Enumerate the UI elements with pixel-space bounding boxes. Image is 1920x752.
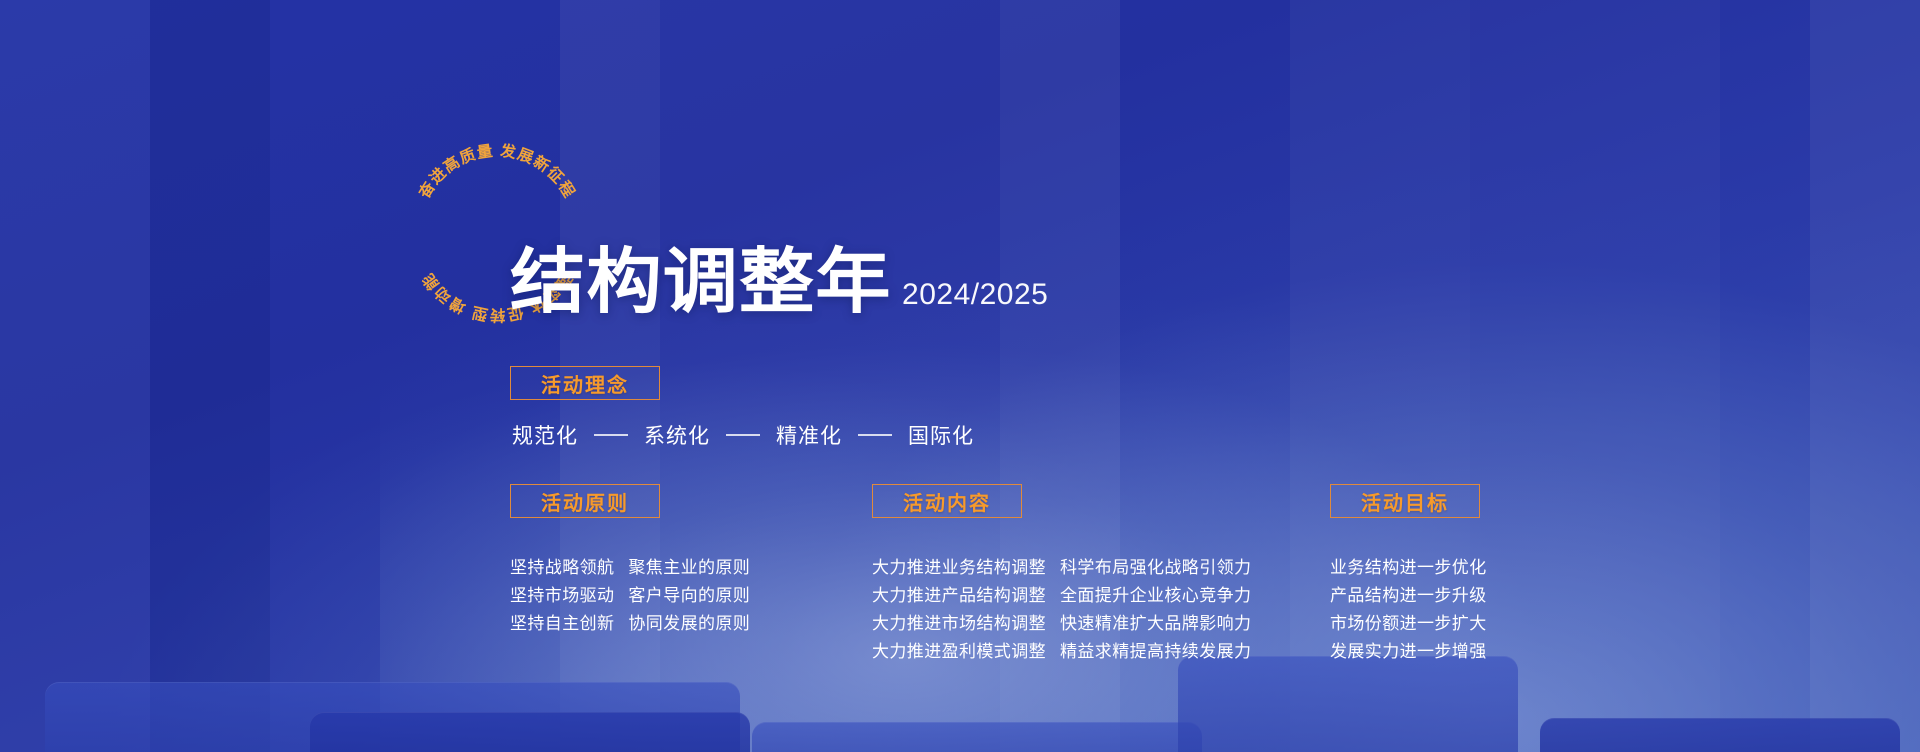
concept-item: 精准化 [774, 420, 844, 450]
page-title: 结构调整年 [510, 247, 892, 318]
list-item: 发展实力进一步增强 [1330, 638, 1487, 666]
list-item-part-b: 精益求精提高持续发展力 [1060, 638, 1251, 666]
list-item: 坚持战略领航 聚焦主业的原则 [510, 554, 750, 582]
list-item-part-b: 科学布局强化战略引领力 [1060, 554, 1251, 582]
concept-row: 规范化 系统化 精准化 国际化 [510, 420, 976, 450]
column-content: 活动内容 大力推进业务结构调整 科学布局强化战略引领力 大力推进产品结构调整 全… [872, 484, 1251, 666]
list-item: 业务结构进一步优化 [1330, 554, 1487, 582]
background-bar [1178, 656, 1518, 752]
column-goals: 活动目标 业务结构进一步优化 产品结构进一步升级 市场份额进一步扩大 发展实力进… [1330, 484, 1487, 666]
list-item-part-a: 市场份额进一步扩大 [1330, 610, 1487, 638]
list-item-part-a: 大力推进市场结构调整 [872, 610, 1046, 638]
badge-concept: 活动理念 [510, 366, 660, 400]
background-bar [310, 712, 750, 752]
list-item-part-a: 坚持市场驱动 [510, 582, 614, 610]
list-item: 大力推进产品结构调整 全面提升企业核心竞争力 [872, 582, 1251, 610]
list-item-part-a: 大力推进业务结构调整 [872, 554, 1046, 582]
concept-item: 国际化 [906, 420, 976, 450]
list-item-part-a: 坚持自主创新 [510, 610, 614, 638]
list-item-part-b: 客户导向的原则 [628, 582, 750, 610]
content-list: 大力推进业务结构调整 科学布局强化战略引领力 大力推进产品结构调整 全面提升企业… [872, 554, 1251, 666]
concept-separator-dash [594, 434, 628, 436]
concept-item: 系统化 [642, 420, 712, 450]
principles-list: 坚持战略领航 聚焦主业的原则 坚持市场驱动 客户导向的原则 坚持自主创新 协同发… [510, 554, 750, 638]
list-item-part-b: 快速精准扩大品牌影响力 [1060, 610, 1251, 638]
list-item-part-a: 产品结构进一步升级 [1330, 582, 1487, 610]
list-item: 坚持市场驱动 客户导向的原则 [510, 582, 750, 610]
background-bar [752, 722, 1202, 752]
badge-principles: 活动原则 [510, 484, 660, 518]
column-principles: 活动原则 坚持战略领航 聚焦主业的原则 坚持市场驱动 客户导向的原则 坚持自主创… [510, 484, 750, 638]
badge-content: 活动内容 [872, 484, 1022, 518]
list-item-part-a: 大力推进盈利模式调整 [872, 638, 1046, 666]
list-item: 大力推进业务结构调整 科学布局强化战略引领力 [872, 554, 1251, 582]
list-item: 坚持自主创新 协同发展的原则 [510, 610, 750, 638]
background-bar [1540, 718, 1900, 752]
badge-goals: 活动目标 [1330, 484, 1480, 518]
list-item-part-b: 全面提升企业核心竞争力 [1060, 582, 1251, 610]
list-item-part-a: 发展实力进一步增强 [1330, 638, 1487, 666]
concept-item: 规范化 [510, 420, 580, 450]
list-item-part-b: 聚焦主业的原则 [628, 554, 750, 582]
concept-separator-dash [858, 434, 892, 436]
list-item-part-a: 大力推进产品结构调整 [872, 582, 1046, 610]
poster-banner: 奋进高质量 发展新征程 强实体 促转型 增动能 结构调整年 2024/2025 … [0, 0, 1920, 752]
list-item: 大力推进市场结构调整 快速精准扩大品牌影响力 [872, 610, 1251, 638]
list-item: 市场份额进一步扩大 [1330, 610, 1487, 638]
list-item-part-b: 协同发展的原则 [628, 610, 750, 638]
list-item-part-a: 业务结构进一步优化 [1330, 554, 1487, 582]
list-item-part-a: 坚持战略领航 [510, 554, 614, 582]
concept-separator-dash [726, 434, 760, 436]
title-row: 结构调整年 2024/2025 [510, 247, 1048, 318]
list-item: 大力推进盈利模式调整 精益求精提高持续发展力 [872, 638, 1251, 666]
list-item: 产品结构进一步升级 [1330, 582, 1487, 610]
goals-list: 业务结构进一步优化 产品结构进一步升级 市场份额进一步扩大 发展实力进一步增强 [1330, 554, 1487, 666]
title-year: 2024/2025 [902, 278, 1048, 318]
